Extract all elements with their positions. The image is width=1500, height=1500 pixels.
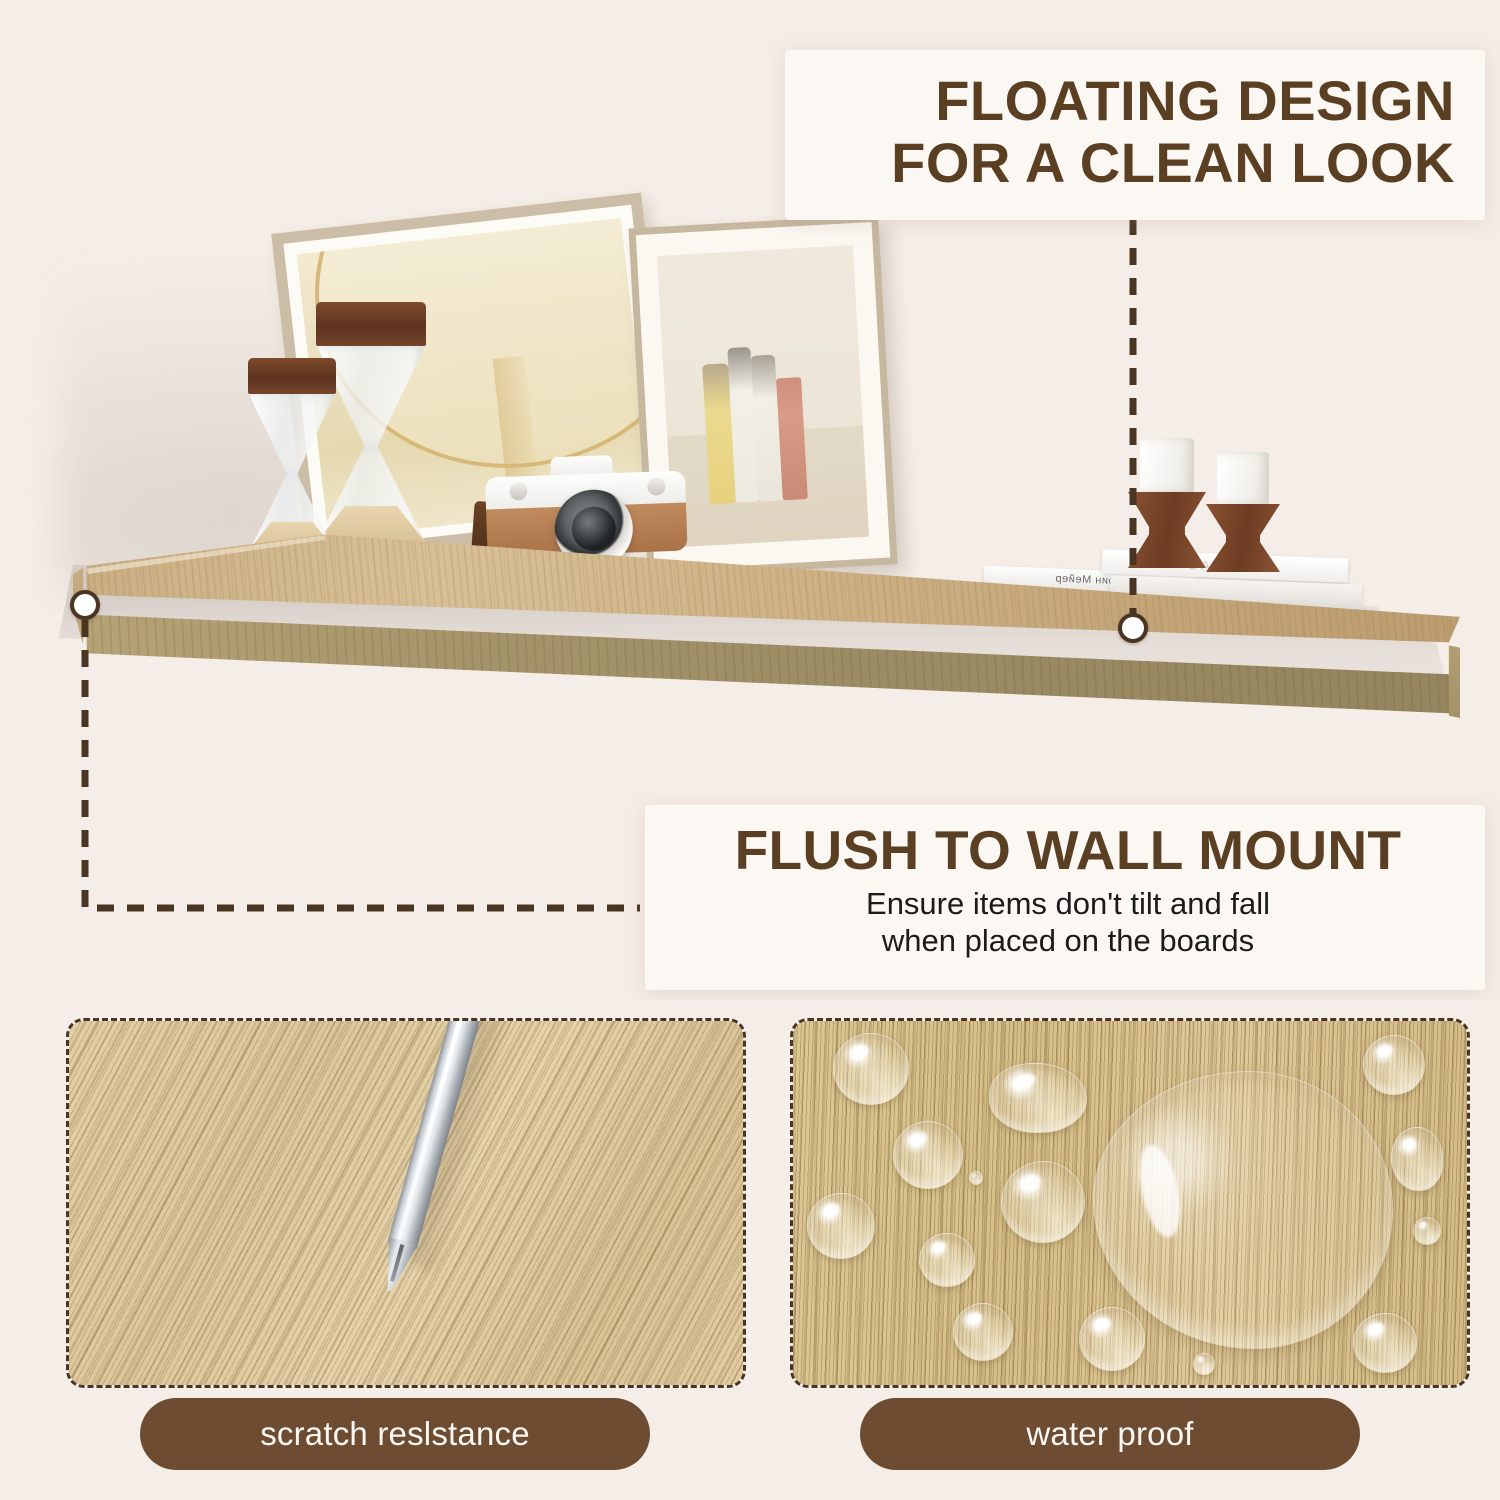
callout-heading-line1: FLOATING DESIGN: [825, 70, 1455, 132]
product-feature-infographic: Эрин Мейер ИСКУССТВО СТРАТЕГИИ CEREAL St…: [0, 0, 1500, 1500]
callout-card-floating-design: FLOATING DESIGN FOR A CLEAN LOOK: [785, 50, 1485, 220]
pill-text: scratch reslstance: [260, 1415, 530, 1453]
shelf-left-mount-dot: [70, 590, 100, 620]
callout-subtitle-line1: Ensure items don't tilt and fall: [679, 886, 1457, 923]
shelf-right-mount-dot: [1118, 613, 1148, 643]
waterproof-panel: [790, 1018, 1470, 1388]
pillar-candle: [1217, 452, 1269, 504]
still-life-bottles-artwork: [657, 245, 869, 547]
hourglass-cap-top: [248, 358, 336, 394]
scratch-resistance-label: scratch reslstance: [140, 1398, 650, 1470]
water-droplet: [807, 1193, 875, 1259]
water-droplet: [953, 1303, 1013, 1361]
callout-card-flush-mount: FLUSH TO WALL MOUNT Ensure items don't t…: [645, 805, 1485, 990]
water-droplet: [1413, 1217, 1441, 1245]
scratch-resistance-panel: [66, 1018, 746, 1388]
pillar-candle: [1140, 438, 1194, 492]
water-droplet: [969, 1171, 983, 1185]
water-droplet: [893, 1121, 963, 1189]
water-droplet: [1363, 1035, 1425, 1095]
water-droplet: [1079, 1307, 1145, 1371]
hourglass-cap-top: [316, 302, 426, 346]
water-droplet: [1353, 1313, 1417, 1373]
callout-heading: FLUSH TO WALL MOUNT: [679, 821, 1457, 880]
callout-heading-line2: FOR A CLEAN LOOK: [825, 132, 1455, 194]
water-droplet: [833, 1033, 909, 1105]
water-droplet: [1391, 1127, 1443, 1191]
waterproof-label: water proof: [860, 1398, 1360, 1470]
pill-text: water proof: [1026, 1415, 1193, 1453]
water-droplet: [1193, 1353, 1215, 1375]
callout-subtitle-line2: when placed on the boards: [679, 923, 1457, 960]
water-droplet: [1001, 1161, 1085, 1243]
water-droplet: [989, 1063, 1087, 1133]
hero-shelf-scene: Эрин Мейер ИСКУССТВО СТРАТЕГИИ CEREAL St…: [0, 0, 1500, 1000]
hourglass-bulb-top: [249, 394, 335, 474]
water-droplet: [919, 1233, 975, 1287]
floating-wall-shelf: [70, 520, 1460, 760]
